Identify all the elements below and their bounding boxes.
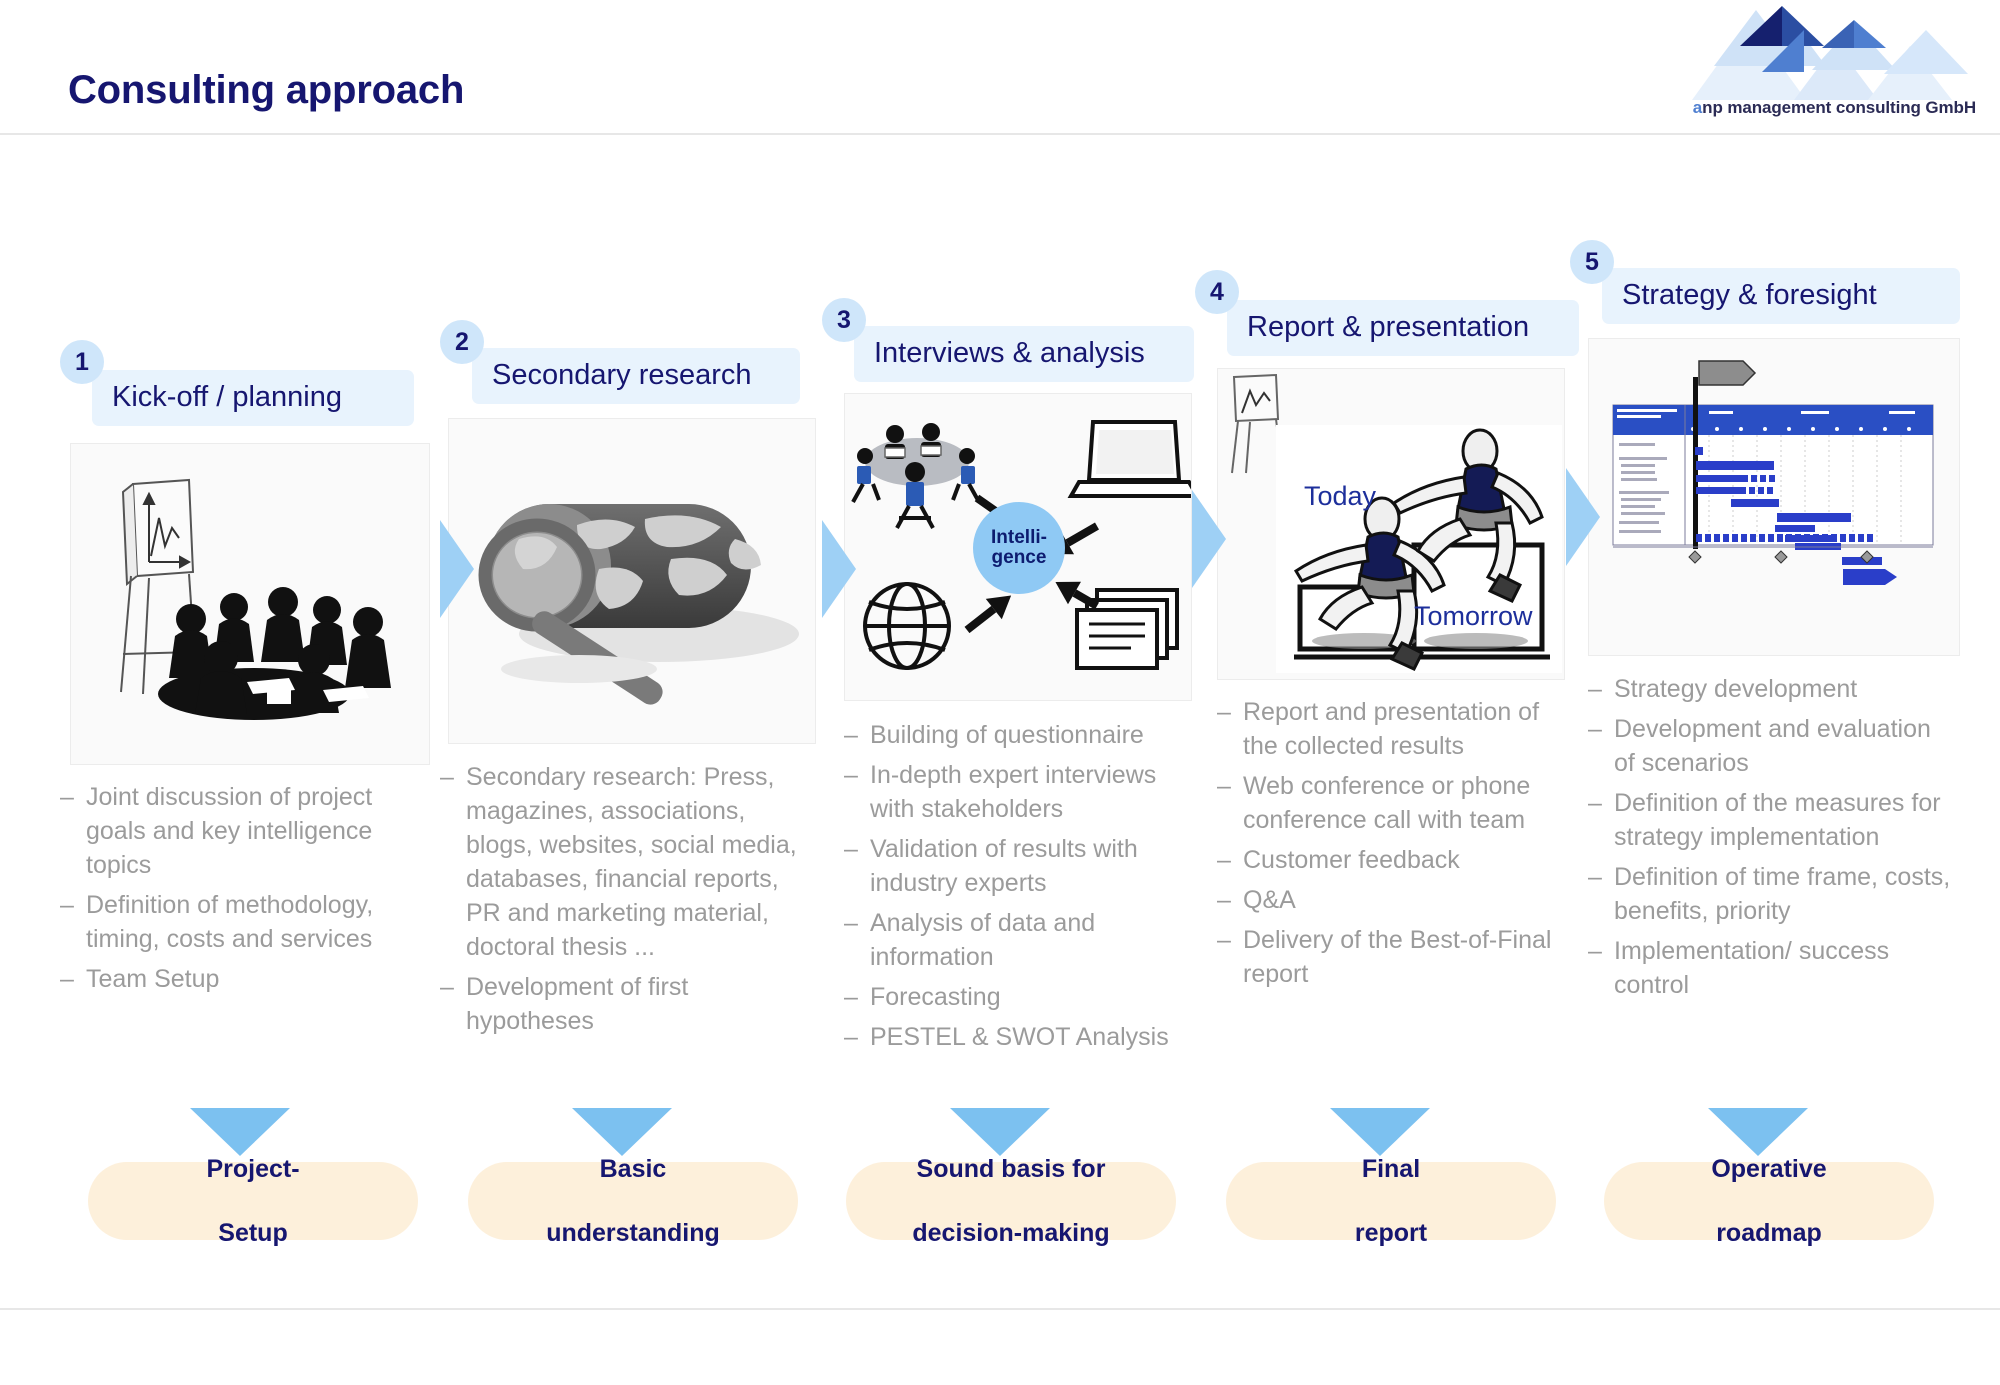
- bullet-dash-icon: –: [1588, 712, 1614, 780]
- intelligence-label-bottom: gence: [992, 548, 1047, 568]
- bullet-item: –Customer feedback: [1217, 843, 1573, 877]
- bullet-item: –Delivery of the Best-of-Final report: [1217, 923, 1573, 991]
- bullet-item: –Definition of time frame, costs, benefi…: [1588, 860, 1958, 928]
- outcome-pill-1: Project-Setup: [88, 1162, 418, 1240]
- bullet-dash-icon: –: [844, 1020, 870, 1054]
- bullet-item: –PESTEL & SWOT Analysis: [844, 1020, 1202, 1054]
- down-arrow-2: [572, 1108, 672, 1156]
- bullet-item: –Report and presentation of the collecte…: [1217, 695, 1573, 763]
- outcome-line: understanding: [546, 1217, 720, 1249]
- bullet-dash-icon: –: [60, 888, 86, 956]
- bullet-dash-icon: –: [1588, 934, 1614, 1002]
- bullet-dash-icon: –: [1588, 672, 1614, 706]
- down-arrow-1: [190, 1108, 290, 1156]
- bullet-dash-icon: –: [844, 758, 870, 826]
- footer-divider: [0, 1308, 2000, 1310]
- step-title-4: Report & presentation: [1227, 300, 1579, 356]
- step-image-5: [1588, 338, 1960, 656]
- bullet-item: –Q&A: [1217, 883, 1573, 917]
- slide-root: Consulting approach anp management consu…: [0, 0, 2000, 1385]
- bullet-dash-icon: –: [1588, 786, 1614, 854]
- bullet-dash-icon: –: [60, 780, 86, 882]
- step-number-badge-2: 2: [440, 320, 484, 364]
- meeting-flipchart-illustration: [71, 444, 430, 765]
- bullet-dash-icon: –: [1217, 769, 1243, 837]
- bullet-item: –Implementation/ success control: [1588, 934, 1958, 1002]
- outcome-line: Setup: [206, 1217, 299, 1249]
- step-image-3: Intelli- gence: [844, 393, 1192, 701]
- flow-chevron-4-5: [1566, 468, 1600, 566]
- bullet-item: –Forecasting: [844, 980, 1202, 1014]
- bullet-dash-icon: –: [844, 906, 870, 974]
- globe-magnifier-illustration: [449, 419, 816, 744]
- hurdle-runners-illustration: [1218, 369, 1565, 680]
- roundtable-icon: [853, 423, 979, 528]
- bullet-item: –Validation of results with industry exp…: [844, 832, 1202, 900]
- bullet-dash-icon: –: [440, 970, 466, 1038]
- outcome-pill-3: Sound basis fordecision-making: [846, 1162, 1176, 1240]
- down-arrow-5: [1708, 1108, 1808, 1156]
- bullet-item: –Joint discussion of project goals and k…: [60, 780, 432, 882]
- step-number-badge-4: 4: [1195, 270, 1239, 314]
- step-image-2: [448, 418, 816, 744]
- flow-chevron-3-4: [1192, 490, 1226, 588]
- bullet-item: –Web conference or phone conference call…: [1217, 769, 1573, 837]
- bullet-dash-icon: –: [1588, 860, 1614, 928]
- label-tomorrow: Tomorrow: [1414, 601, 1533, 632]
- outcome-pill-4: Finalreport: [1226, 1162, 1556, 1240]
- gantt-roadmap-illustration: [1589, 339, 1960, 656]
- bullet-item: –In-depth expert interviews with stakeho…: [844, 758, 1202, 826]
- step-bullets-2: –Secondary research: Press, magazines, a…: [440, 760, 816, 1044]
- step-bullets-3: –Building of questionnaire –In-depth exp…: [844, 718, 1202, 1060]
- bullet-item: –Definition of the measures for strategy…: [1588, 786, 1958, 854]
- bullet-dash-icon: –: [844, 832, 870, 900]
- step-title-5: Strategy & foresight: [1602, 268, 1960, 324]
- bullet-dash-icon: –: [1217, 923, 1243, 991]
- bullet-item: –Team Setup: [60, 962, 432, 996]
- outcome-pill-2: Basicunderstanding: [468, 1162, 798, 1240]
- bullet-dash-icon: –: [844, 980, 870, 1014]
- step-bullets-5: –Strategy development –Development and e…: [1588, 672, 1958, 1008]
- bullet-item: –Secondary research: Press, magazines, a…: [440, 760, 816, 964]
- step-image-1: [70, 443, 430, 765]
- down-arrow-3: [950, 1108, 1050, 1156]
- bullet-item: –Development and evaluation of scenarios: [1588, 712, 1958, 780]
- intelligence-label-top: Intelli-: [991, 528, 1047, 548]
- step-title-2: Secondary research: [472, 348, 800, 404]
- bullet-item: –Strategy development: [1588, 672, 1958, 706]
- bullet-item: –Analysis of data and information: [844, 906, 1202, 974]
- step-bullets-4: –Report and presentation of the collecte…: [1217, 695, 1573, 997]
- bullet-dash-icon: –: [844, 718, 870, 752]
- step-number-badge-5: 5: [1570, 240, 1614, 284]
- outcome-line: roadmap: [1711, 1217, 1826, 1249]
- bullet-item: –Definition of methodology, timing, cost…: [60, 888, 432, 956]
- step-number-badge-3: 3: [822, 298, 866, 342]
- step-number-badge-1: 1: [60, 340, 104, 384]
- outcome-line: report: [1355, 1217, 1427, 1249]
- laptop-icon: [1071, 422, 1192, 496]
- outcome-line: Sound basis for: [912, 1153, 1109, 1185]
- outcome-line: Final: [1355, 1153, 1427, 1185]
- outcome-pill-5: Operativeroadmap: [1604, 1162, 1934, 1240]
- step-title-3: Interviews & analysis: [854, 326, 1194, 382]
- outcome-line: Basic: [546, 1153, 720, 1185]
- bullet-dash-icon: –: [60, 962, 86, 996]
- bullet-dash-icon: –: [1217, 843, 1243, 877]
- outcome-line: Operative: [1711, 1153, 1826, 1185]
- mini-flipchart-icon: [1232, 375, 1282, 473]
- flow-chevron-2-3: [822, 520, 856, 618]
- bullet-dash-icon: –: [1217, 883, 1243, 917]
- outcome-line: decision-making: [912, 1217, 1109, 1249]
- down-arrow-4: [1330, 1108, 1430, 1156]
- label-today: Today: [1304, 481, 1376, 512]
- globe-grid-icon: [865, 584, 949, 668]
- step-title-1: Kick-off / planning: [92, 370, 414, 426]
- step-image-4: Today Tomorrow: [1217, 368, 1565, 680]
- bullet-item: –Building of questionnaire: [844, 718, 1202, 752]
- bullet-item: –Development of first hypotheses: [440, 970, 816, 1038]
- flow-chevron-1-2: [440, 520, 474, 618]
- outcome-line: Project-: [206, 1153, 299, 1185]
- intelligence-center-node: Intelli- gence: [973, 502, 1065, 594]
- bullet-dash-icon: –: [1217, 695, 1243, 763]
- bullet-dash-icon: –: [440, 760, 466, 964]
- step-bullets-1: –Joint discussion of project goals and k…: [60, 780, 432, 1002]
